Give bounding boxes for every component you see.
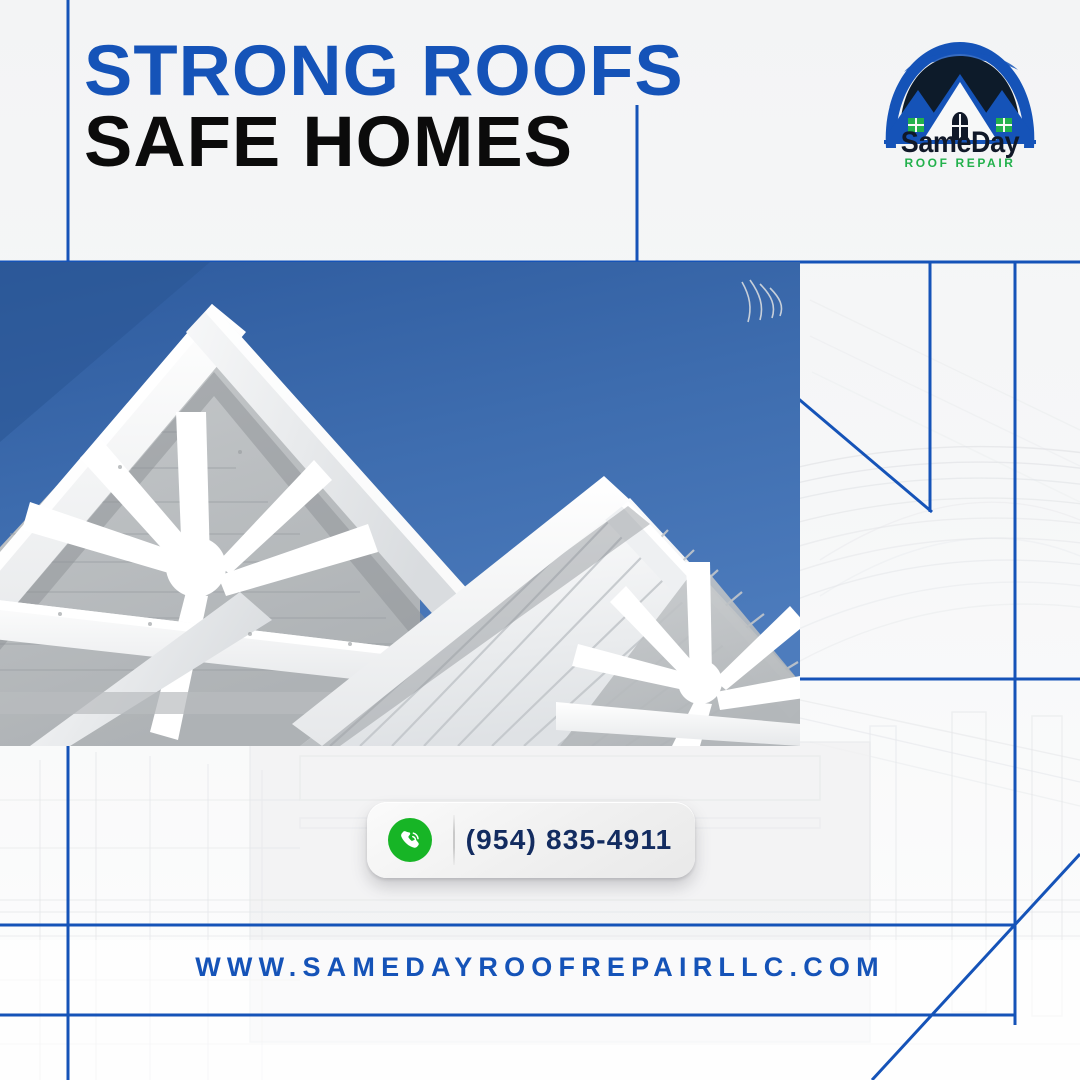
company-logo[interactable]: SameDay ROOF REPAIR — [874, 30, 1046, 170]
phone-icon — [388, 818, 432, 862]
logo-tagline: ROOF REPAIR — [874, 156, 1046, 170]
phone-number[interactable]: (954) 835-4911 — [455, 824, 695, 856]
roof-photo — [0, 262, 800, 746]
website-url[interactable]: WWW.SAMEDAYROOFREPAIRLLC.COM — [0, 952, 1080, 983]
phone-cta-pill[interactable]: (954) 835-4911 — [367, 802, 695, 878]
logo-brand-name: SameDay — [883, 126, 1038, 160]
headline-line-2: SAFE HOMES — [84, 107, 696, 179]
headline-line-1: STRONG ROOFS — [84, 38, 696, 107]
poster-canvas: STRONG ROOFS SAFE HOMES — [0, 0, 1080, 1080]
headline-block: STRONG ROOFS SAFE HOMES — [84, 38, 684, 179]
